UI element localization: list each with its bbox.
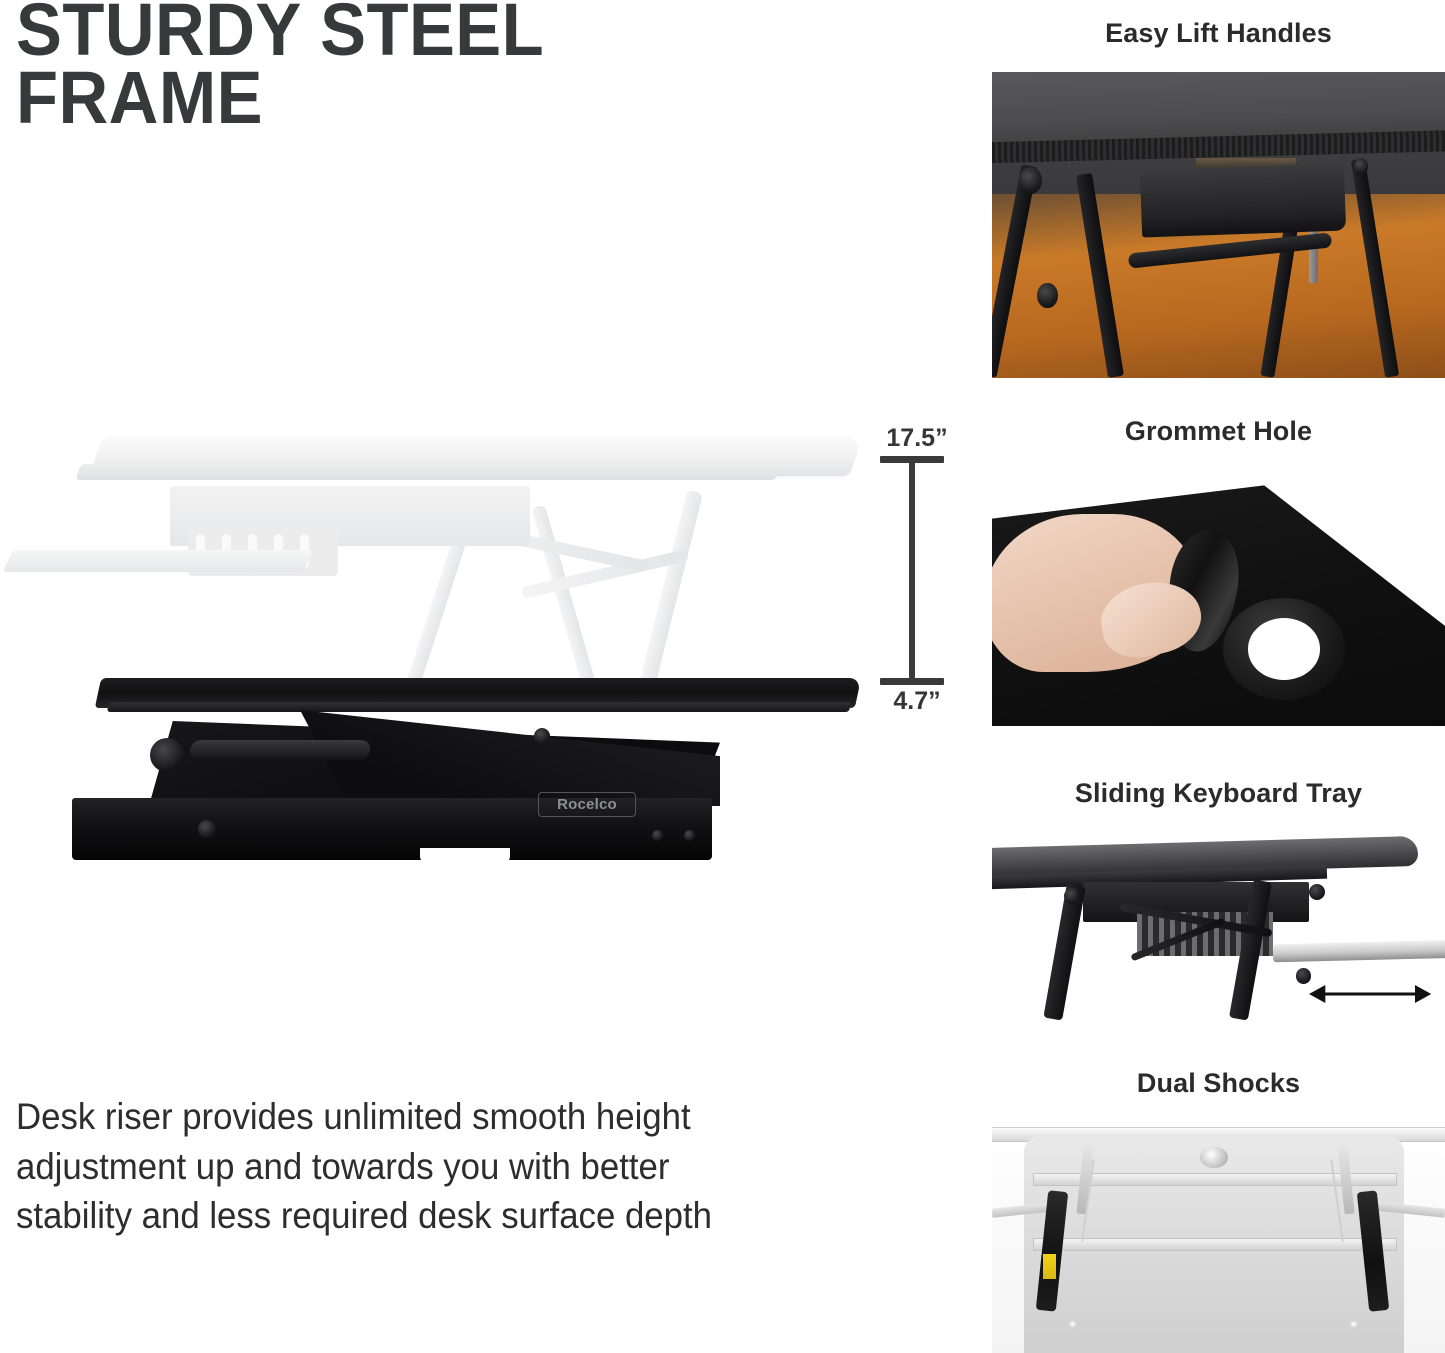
- frame-leg: [1044, 883, 1086, 1020]
- keyboard-tray: [1273, 940, 1445, 963]
- riser-screw: [534, 728, 550, 744]
- feature-title-dual-shocks: Dual Shocks: [992, 1068, 1445, 1099]
- slide-direction-arrow-icon: [1309, 980, 1431, 1008]
- ghost-desktop-underside: [75, 464, 781, 480]
- riser-screw: [652, 830, 663, 841]
- grommet-hole-opening: [1248, 618, 1320, 679]
- feature-title-sliding-keyboard-tray: Sliding Keyboard Tray: [992, 778, 1445, 809]
- photo-easy-lift-handles: [992, 72, 1445, 378]
- photo-grommet-hole: [992, 470, 1445, 726]
- ghost-keyboard-tray: [3, 550, 314, 572]
- frame-screw: [1037, 283, 1057, 307]
- product-description: Desk riser provides unlimited smooth hei…: [16, 1092, 730, 1241]
- dimension-line: [909, 457, 915, 681]
- height-dimension-callout: 17.5” 4.7”: [862, 424, 972, 724]
- panel-screw: [1350, 1321, 1359, 1329]
- mounting-hole: [1200, 1147, 1227, 1168]
- photo-dual-shocks: [992, 1122, 1445, 1353]
- lift-handle: [1140, 163, 1346, 237]
- product-diagram: [0, 418, 880, 878]
- feature-title-easy-lift-handles: Easy Lift Handles: [992, 18, 1445, 49]
- frame-screw: [1019, 167, 1042, 195]
- photo-sliding-keyboard-tray: [992, 832, 1445, 1032]
- shock-warning-label: [1043, 1254, 1057, 1279]
- riser-screw: [198, 820, 216, 838]
- riser-pivot-joint: [150, 738, 184, 772]
- riser-screw: [684, 830, 695, 841]
- riser-desktop-edge: [107, 702, 851, 712]
- rocelco-brand-logo: Rocelco: [538, 792, 636, 817]
- riser-base-notch: [420, 848, 510, 864]
- panel-screw: [1069, 1321, 1078, 1329]
- infographic-page: STURDY STEEL FRAME Rocelco 17: [0, 0, 1445, 1353]
- riser-gas-cylinder: [189, 740, 371, 760]
- lowered-height-label: 4.7”: [862, 687, 972, 716]
- page-title: STURDY STEEL FRAME: [16, 0, 816, 132]
- dimension-cap-bottom: [880, 678, 944, 685]
- raised-height-label: 17.5”: [862, 424, 972, 453]
- frame-screw: [1354, 158, 1368, 175]
- feature-title-grommet-hole: Grommet Hole: [992, 416, 1445, 447]
- frame-screw: [1309, 884, 1325, 900]
